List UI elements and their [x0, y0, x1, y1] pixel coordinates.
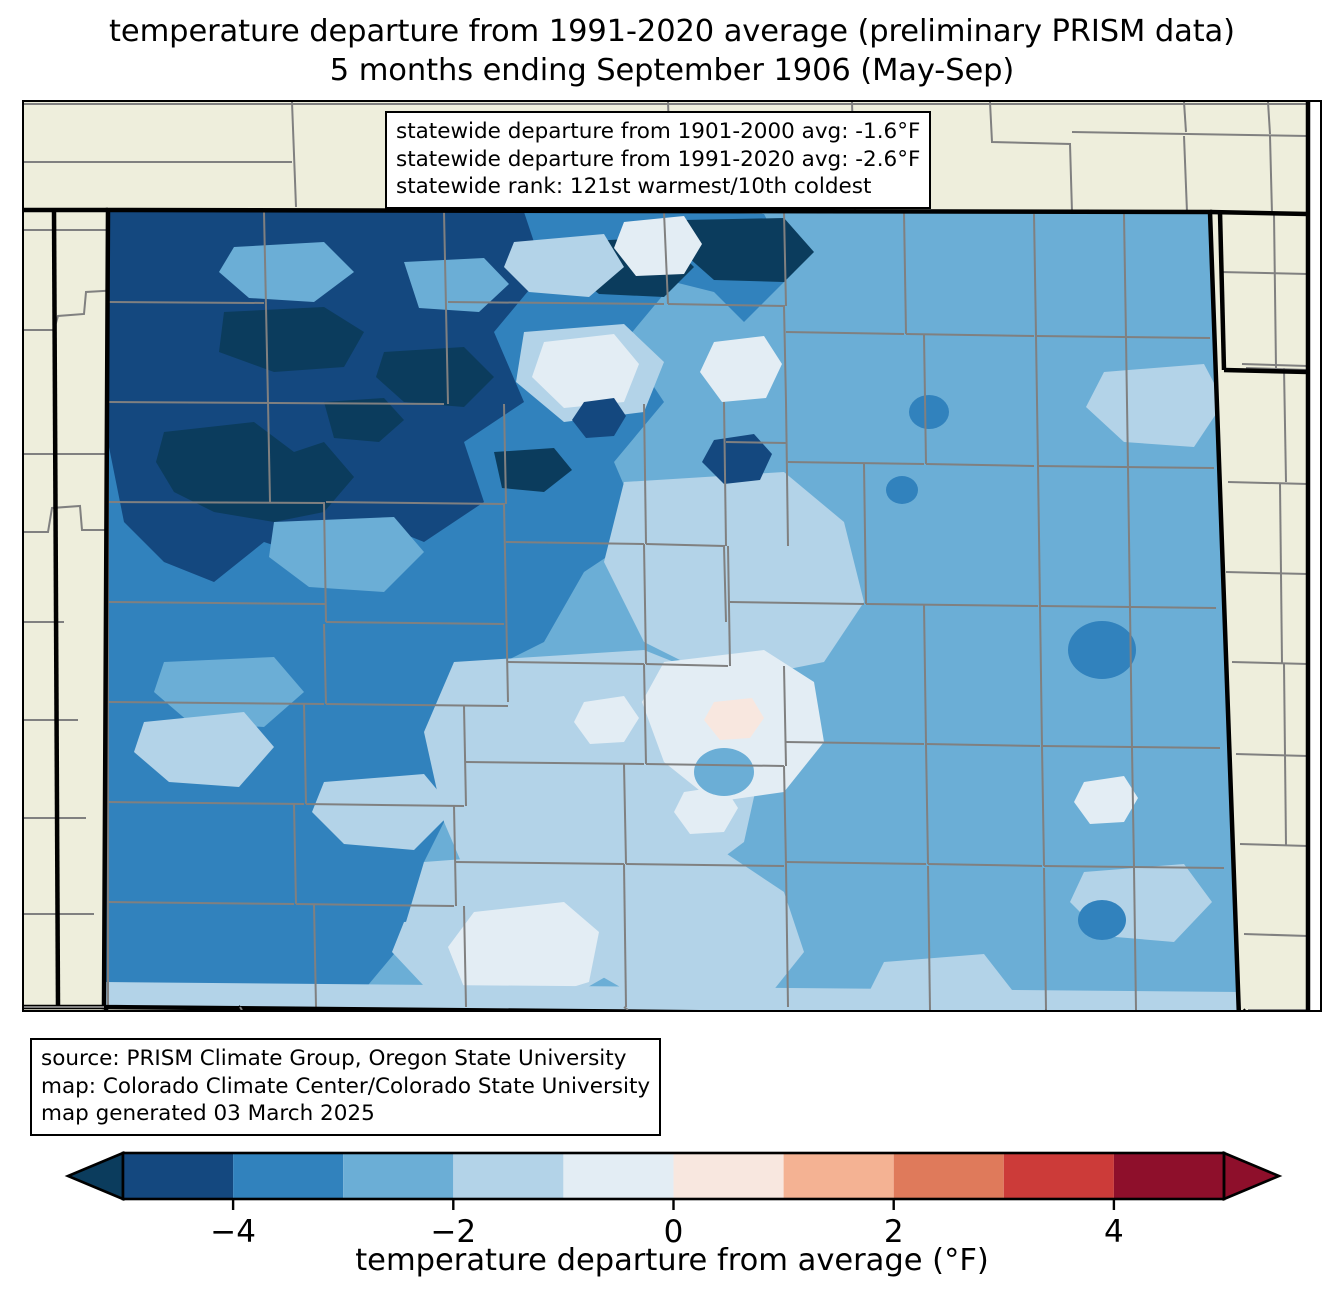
band--3to-2-spot5: [694, 748, 754, 796]
colorbar-svg: −4−2024: [0, 1147, 1344, 1252]
climate-map-figure: temperature departure from 1991-2020 ave…: [0, 0, 1344, 1299]
map-panel: [22, 100, 1322, 1012]
band--4to-3-east-spot3: [909, 395, 949, 429]
source-attribution-box: source: PRISM Climate Group, Oregon Stat…: [30, 1038, 661, 1136]
title-line-1: temperature departure from 1991-2020 ave…: [0, 12, 1344, 51]
colorbar-ticks: [233, 1199, 1114, 1210]
colorbar-band-2-to-3: [894, 1153, 1004, 1199]
colorbar-band--2-to--1: [453, 1153, 563, 1199]
colorbar-band--5-to--4: [123, 1153, 233, 1199]
colorbar-band-3-to-4: [1004, 1153, 1114, 1199]
colorbar-band-0-to-1: [674, 1153, 784, 1199]
colorbar-band->-4: [1114, 1153, 1224, 1199]
colorbar-bands: [68, 1153, 1279, 1199]
statewide-stats-box: statewide departure from 1901-2000 avg: …: [385, 111, 931, 209]
colorbar-axis-label: temperature departure from average (°F): [0, 1243, 1344, 1278]
page-title: temperature departure from 1991-2020 ave…: [0, 12, 1344, 90]
colorbar-band-1-to-2: [784, 1153, 894, 1199]
title-line-2: 5 months ending September 1906 (May-Sep): [0, 51, 1344, 90]
band--4to-3-east-spot1: [1068, 621, 1136, 679]
source-line: source: PRISM Climate Group, Oregon Stat…: [41, 1045, 650, 1073]
band--4to-3-east-spot2: [1078, 900, 1126, 940]
map-credit-line: map: Colorado Climate Center/Colorado St…: [41, 1073, 650, 1101]
colorbar-under-arrow: [68, 1153, 123, 1199]
colorbar-over-arrow: [1224, 1153, 1279, 1199]
stat-statewide-rank: statewide rank: 121st warmest/10th colde…: [396, 173, 920, 201]
colorbar-band--4-to--3: [233, 1153, 343, 1199]
stat-departure-1901-2000: statewide departure from 1901-2000 avg: …: [396, 118, 920, 146]
temperature-contour-fill: [84, 192, 1264, 1010]
colorbar-band--3-to--2: [343, 1153, 453, 1199]
stat-departure-1991-2020: statewide departure from 1991-2020 avg: …: [396, 146, 920, 174]
colorbar-band--1-to-0: [563, 1153, 673, 1199]
map-generated-line: map generated 03 March 2025: [41, 1100, 650, 1128]
band--4to-3-east-spot4: [886, 476, 918, 504]
colorado-temperature-departure-map: [24, 102, 1320, 1010]
